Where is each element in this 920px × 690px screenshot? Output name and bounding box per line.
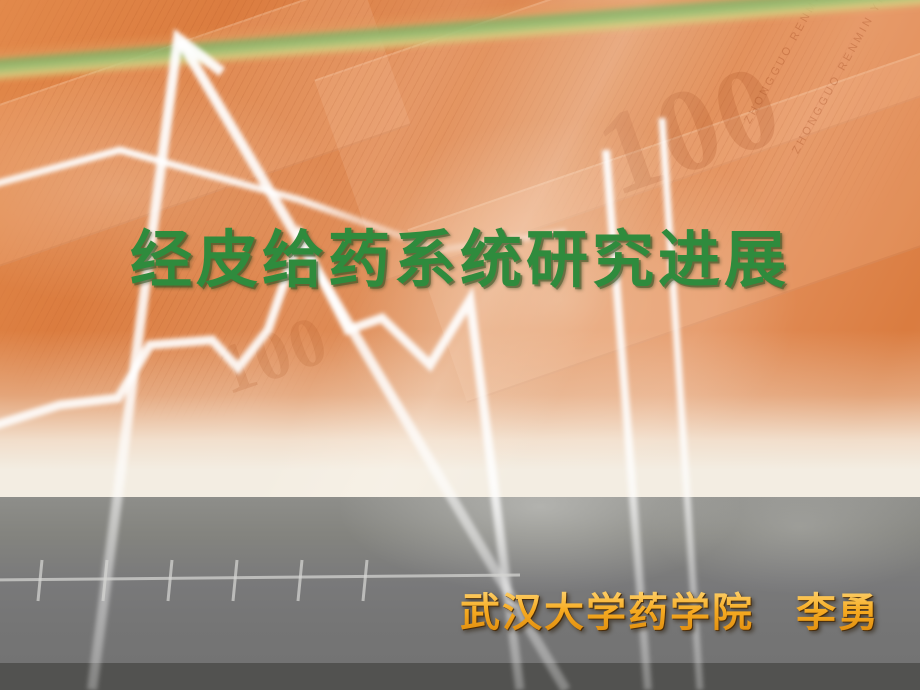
slide-title: 经皮给药系统研究进展 <box>0 214 920 306</box>
presentation-slide: 100 100 ZHONGGUO RENMIN YINHANG ZHONGGUO… <box>0 0 920 690</box>
slide-subtitle: 武汉大学药学院 李勇 <box>0 586 880 640</box>
bottom-dark-strip <box>0 663 920 690</box>
